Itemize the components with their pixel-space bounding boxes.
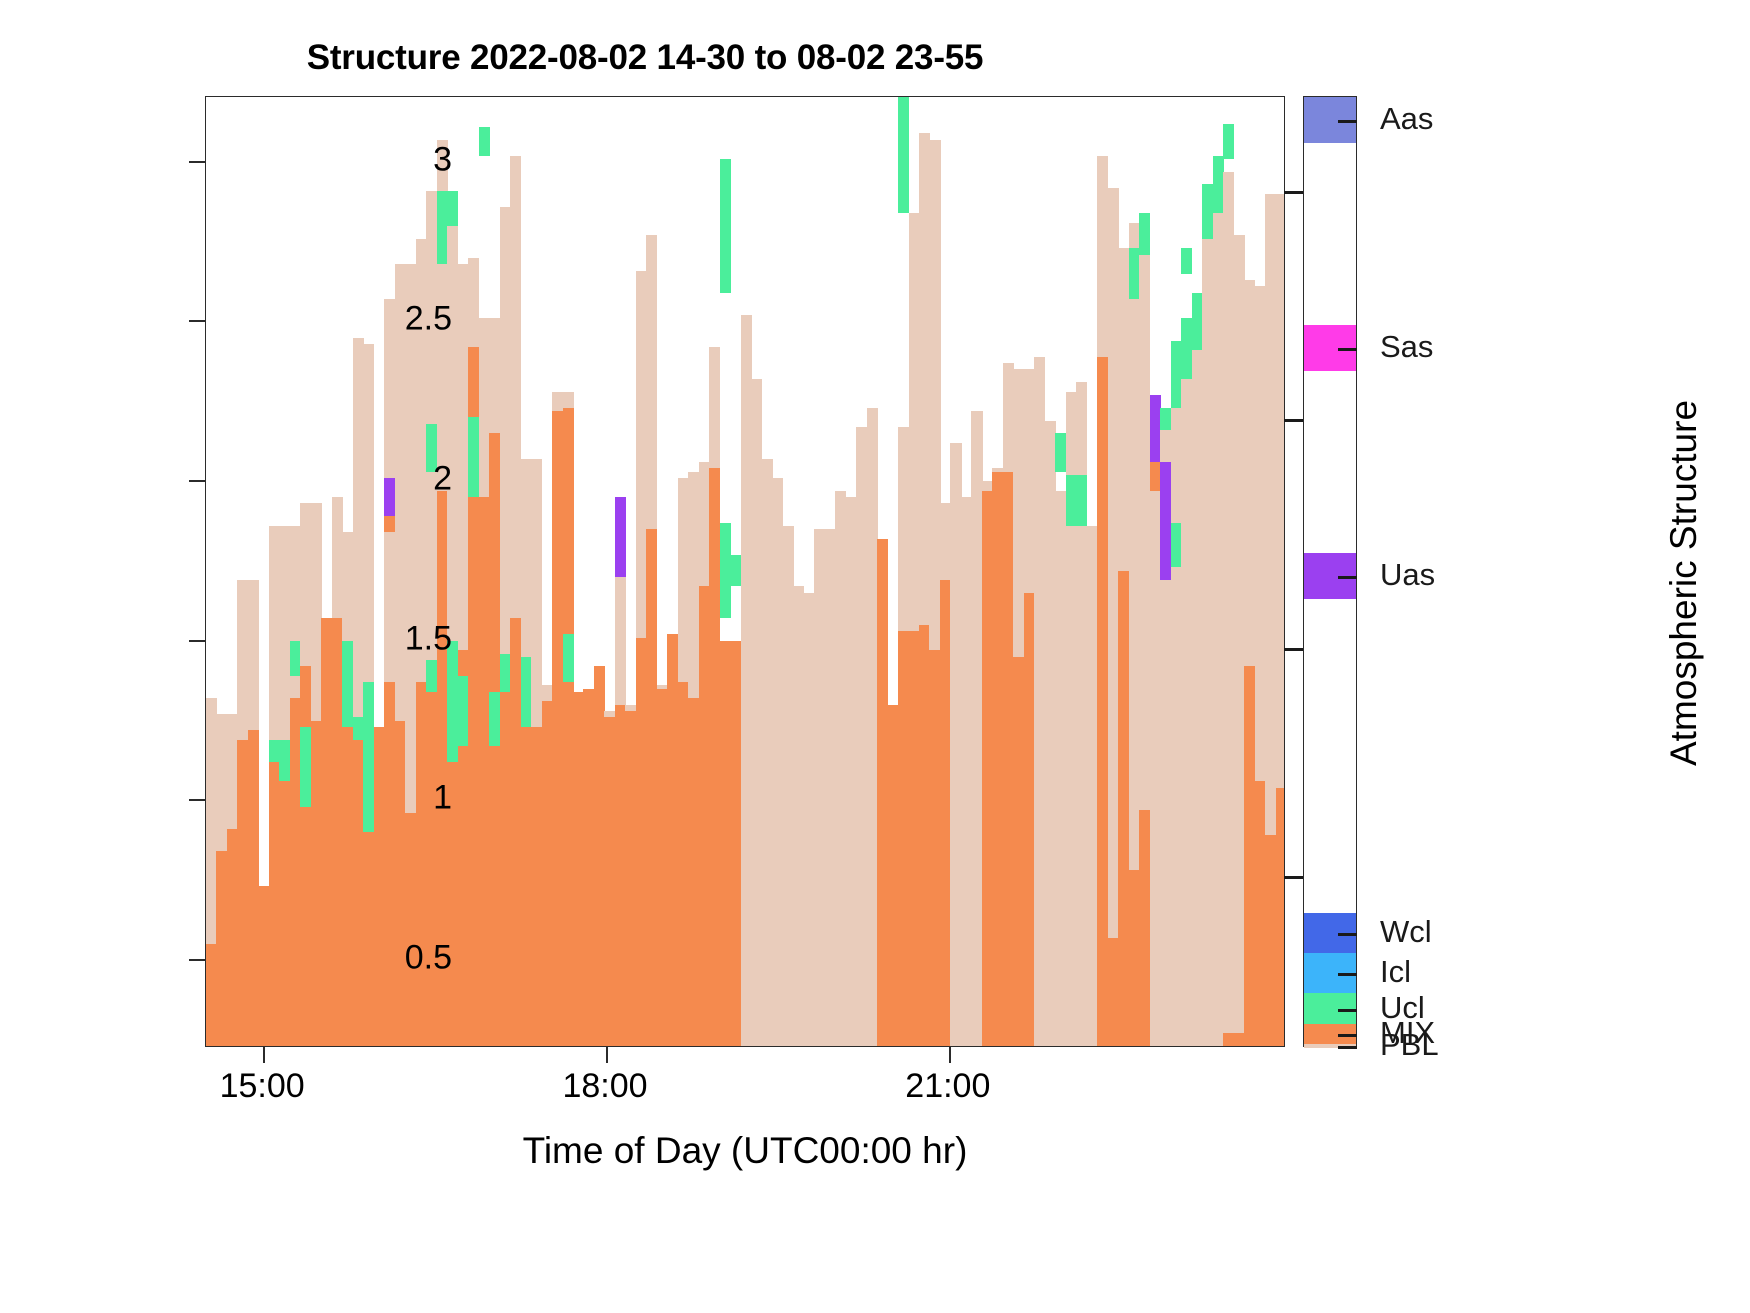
structure-segment xyxy=(1034,357,1045,1046)
colorbar-tick-mark xyxy=(1338,576,1357,579)
structure-segment xyxy=(216,851,227,1046)
structure-segment xyxy=(521,657,532,727)
profile-column xyxy=(615,97,626,1046)
profile-column xyxy=(646,97,657,1046)
structure-segment xyxy=(604,717,615,1046)
profile-column xyxy=(395,97,406,1046)
structure-segment xyxy=(1045,421,1056,1046)
profile-column xyxy=(678,97,689,1046)
x-tick-label: 15:00 xyxy=(220,1067,305,1106)
profile-column xyxy=(793,97,804,1046)
colorbar-label-uas: Uas xyxy=(1380,557,1435,593)
profile-column xyxy=(416,97,427,1046)
structure-segment xyxy=(825,529,836,1046)
structure-segment xyxy=(657,689,668,1046)
structure-segment xyxy=(940,580,951,1046)
structure-segment xyxy=(877,539,888,1046)
profile-column xyxy=(856,97,867,1046)
structure-segment xyxy=(730,641,741,1046)
profile-column xyxy=(489,97,500,1046)
y-tick-mark xyxy=(189,640,206,642)
structure-segment xyxy=(1013,657,1024,1046)
profile-column xyxy=(342,97,353,1046)
profile-column xyxy=(1118,97,1129,1046)
structure-segment xyxy=(573,692,584,1046)
profile-column xyxy=(667,97,678,1046)
profile-column xyxy=(992,97,1003,1046)
structure-segment xyxy=(206,944,217,1046)
profile-column xyxy=(426,97,437,1046)
structure-segment xyxy=(1150,395,1161,462)
structure-segment xyxy=(730,555,741,587)
structure-segment xyxy=(919,625,930,1046)
y-tick-label: 1.5 xyxy=(292,619,452,658)
structure-segment xyxy=(321,618,332,1046)
profile-column xyxy=(1276,97,1285,1046)
structure-segment xyxy=(688,698,699,1046)
profile-column xyxy=(783,97,794,1046)
profile-column xyxy=(1076,97,1087,1046)
structure-segment xyxy=(447,191,458,226)
profile-column xyxy=(982,97,993,1046)
y-tick-mark xyxy=(189,320,206,322)
structure-segment xyxy=(300,666,311,1046)
structure-segment xyxy=(1223,1033,1234,1046)
colorbar-tick-mark xyxy=(1338,348,1357,351)
structure-segment xyxy=(531,727,542,1046)
structure-segment xyxy=(856,427,867,1046)
structure-segment xyxy=(667,634,678,1046)
structure-segment xyxy=(835,491,846,1046)
structure-segment xyxy=(1244,666,1255,1046)
profile-column xyxy=(563,97,574,1046)
structure-segment xyxy=(814,529,825,1046)
colorbar-label-pbl: PBL xyxy=(1380,1027,1439,1063)
profile-column xyxy=(720,97,731,1046)
profile-column xyxy=(688,97,699,1046)
profile-column xyxy=(1003,97,1014,1046)
profile-column xyxy=(1265,97,1276,1046)
structure-segment xyxy=(1213,191,1224,1046)
profile-column xyxy=(1108,97,1119,1046)
y-tick-label: 3 xyxy=(292,140,452,179)
profile-column xyxy=(510,97,521,1046)
profile-column xyxy=(583,97,594,1046)
structure-segment xyxy=(237,740,248,1046)
structure-segment xyxy=(625,711,636,1046)
structure-segment xyxy=(479,497,490,1046)
structure-segment xyxy=(1129,248,1140,299)
profile-column xyxy=(468,97,479,1046)
structure-segment xyxy=(888,705,899,1046)
structure-segment xyxy=(405,813,416,1046)
structure-segment xyxy=(1171,341,1182,408)
structure-segment xyxy=(269,762,280,1046)
profile-column xyxy=(290,97,301,1046)
structure-segment xyxy=(929,650,940,1046)
structure-segment xyxy=(594,666,605,1046)
structure-segment xyxy=(1276,788,1285,1046)
colorbar-label-sas: Sas xyxy=(1380,329,1433,365)
structure-segment xyxy=(699,586,710,1046)
profile-column xyxy=(1045,97,1056,1046)
profile-column xyxy=(950,97,961,1046)
structure-segment xyxy=(961,497,972,1046)
y-tick-label: 1 xyxy=(292,779,452,818)
structure-segment xyxy=(1181,318,1192,379)
profile-column xyxy=(804,97,815,1046)
profile-column xyxy=(1171,97,1182,1046)
profile-column xyxy=(1213,97,1224,1046)
profile-column xyxy=(940,97,951,1046)
profile-column xyxy=(888,97,899,1046)
profile-column xyxy=(1013,97,1024,1046)
profile-column xyxy=(835,97,846,1046)
structure-segment xyxy=(500,692,511,1046)
structure-segment xyxy=(437,191,448,264)
structure-segment xyxy=(1160,462,1171,523)
structure-segment xyxy=(1139,213,1150,254)
profile-column xyxy=(311,97,322,1046)
structure-segment xyxy=(353,727,364,1046)
structure-segment xyxy=(1055,491,1066,1046)
structure-segment xyxy=(992,472,1003,1046)
x-tick-mark xyxy=(263,1046,265,1063)
structure-segment xyxy=(1181,318,1192,1046)
structure-segment xyxy=(1202,216,1213,1046)
profile-column xyxy=(216,97,227,1046)
structure-segment xyxy=(720,523,731,619)
profile-column xyxy=(248,97,259,1046)
profile-column xyxy=(269,97,280,1046)
profile-column xyxy=(594,97,605,1046)
profile-column xyxy=(898,97,909,1046)
profile-column xyxy=(458,97,469,1046)
structure-segment xyxy=(1108,938,1119,1047)
profile-column xyxy=(1139,97,1150,1046)
structure-segment xyxy=(1076,475,1087,526)
structure-segment xyxy=(416,682,427,1046)
profile-column xyxy=(741,97,752,1046)
colorbar-label-wcl: Wcl xyxy=(1380,914,1432,950)
structure-segment xyxy=(678,682,689,1046)
profile-column xyxy=(699,97,710,1046)
profile-column xyxy=(909,97,920,1046)
profile-column xyxy=(1055,97,1066,1046)
profile-column xyxy=(971,97,982,1046)
structure-segment xyxy=(342,682,353,1046)
profile-column xyxy=(762,97,773,1046)
structure-segment xyxy=(510,618,521,1046)
structure-segment xyxy=(374,727,385,1046)
structure-segment xyxy=(615,705,626,1046)
structure-segment xyxy=(489,692,500,746)
colorbar-title: Atmospheric Structure xyxy=(1663,400,1705,766)
structure-segment xyxy=(279,740,290,781)
colorbar-tick-mark xyxy=(1338,1046,1357,1049)
structure-segment xyxy=(1192,293,1203,1046)
structure-segment xyxy=(1192,293,1203,350)
profile-column xyxy=(384,97,395,1046)
colorbar[interactable] xyxy=(1303,96,1357,1047)
structure-segment xyxy=(1087,526,1098,1046)
structure-segment xyxy=(468,417,479,497)
profile-column xyxy=(437,97,448,1046)
x-axis-title: Time of Day (UTC00:00 hr) xyxy=(205,1130,1285,1172)
profile-column xyxy=(1192,97,1203,1046)
plot-axes xyxy=(205,96,1285,1047)
structure-segment xyxy=(500,654,511,692)
structure-segment xyxy=(720,641,731,1046)
profile-column xyxy=(405,97,416,1046)
profile-column xyxy=(573,97,584,1046)
profile-column xyxy=(531,97,542,1046)
structure-segment xyxy=(1118,571,1129,1047)
profile-column xyxy=(846,97,857,1046)
profile-column xyxy=(751,97,762,1046)
y-tick-label: 0.5 xyxy=(292,938,452,977)
colorbar-label-icl: Icl xyxy=(1380,954,1411,990)
profile-column xyxy=(479,97,490,1046)
structure-segment xyxy=(971,411,982,1046)
structure-segment xyxy=(1097,357,1108,1046)
profile-column xyxy=(1034,97,1045,1046)
profile-column xyxy=(1234,97,1245,1046)
structure-segment xyxy=(458,676,469,746)
y-tick-mark xyxy=(189,161,206,163)
figure-canvas: Structure 2022-08-02 14-30 to 08-02 23-5… xyxy=(0,0,1750,1313)
profile-column xyxy=(279,97,290,1046)
profile-column xyxy=(1255,97,1266,1046)
profile-column xyxy=(657,97,668,1046)
profile-column xyxy=(625,97,636,1046)
structure-segment xyxy=(258,886,269,1046)
profile-column xyxy=(1202,97,1213,1046)
plot-clip-region xyxy=(206,97,1284,1046)
profile-column xyxy=(447,97,458,1046)
structure-segment xyxy=(772,478,783,1046)
structure-segment xyxy=(793,586,804,1046)
structure-segment xyxy=(615,497,626,577)
profile-column xyxy=(929,97,940,1046)
profile-column xyxy=(877,97,888,1046)
profile-column xyxy=(1223,97,1234,1046)
profile-column xyxy=(730,97,741,1046)
structure-segment xyxy=(1160,523,1171,580)
structure-segment xyxy=(1223,124,1234,159)
structure-segment xyxy=(1150,462,1161,491)
structure-segment xyxy=(290,698,301,1046)
profile-column xyxy=(1024,97,1035,1046)
profile-column xyxy=(552,97,563,1046)
structure-segment xyxy=(1003,472,1014,1046)
structure-segment xyxy=(563,634,574,682)
structure-segment xyxy=(269,740,280,762)
profile-column xyxy=(814,97,825,1046)
structure-segment xyxy=(1171,341,1182,1046)
structure-segment xyxy=(1234,235,1245,1046)
profile-column xyxy=(500,97,511,1046)
profile-column xyxy=(867,97,878,1046)
structure-segment xyxy=(583,689,594,1046)
structure-segment xyxy=(1160,408,1171,430)
structure-segment xyxy=(898,97,909,213)
colorbar-tick-mark xyxy=(1338,933,1357,936)
profile-column xyxy=(521,97,532,1046)
profile-column xyxy=(1087,97,1098,1046)
structure-segment xyxy=(751,379,762,1046)
colorbar-outer-tick xyxy=(1284,419,1303,422)
structure-segment xyxy=(395,721,406,1047)
y-tick-mark xyxy=(189,799,206,801)
structure-segment xyxy=(1066,475,1077,526)
structure-segment xyxy=(1024,593,1035,1046)
colorbar-tick-mark xyxy=(1338,1009,1357,1012)
structure-segment xyxy=(332,618,343,1046)
structure-segment xyxy=(1171,523,1182,568)
structure-segment xyxy=(950,443,961,1046)
structure-segment xyxy=(248,730,259,1046)
profile-column xyxy=(604,97,615,1046)
x-tick-label: 18:00 xyxy=(562,1067,647,1106)
profile-column xyxy=(542,97,553,1046)
structure-segment xyxy=(447,641,458,762)
structure-segment xyxy=(636,638,647,1046)
profile-column xyxy=(332,97,343,1046)
structure-segment xyxy=(846,497,857,1046)
profile-column xyxy=(363,97,374,1046)
structure-segment xyxy=(479,127,490,156)
x-tick-mark xyxy=(949,1046,951,1063)
structure-segment xyxy=(279,781,290,1046)
structure-segment xyxy=(426,660,437,692)
profile-column xyxy=(258,97,269,1046)
profile-column xyxy=(353,97,364,1046)
structure-segment xyxy=(1139,810,1150,1046)
colorbar-outer-tick xyxy=(1284,191,1303,194)
profile-column xyxy=(1150,97,1161,1046)
structure-segment xyxy=(1181,248,1192,274)
profile-column xyxy=(772,97,783,1046)
colorbar-label-aas: Aas xyxy=(1380,101,1433,137)
colorbar-outer-tick xyxy=(1284,648,1303,651)
x-tick-mark xyxy=(606,1046,608,1063)
structure-segment xyxy=(804,593,815,1046)
profile-column xyxy=(374,97,385,1046)
y-tick-label: 2 xyxy=(292,459,452,498)
profile-column xyxy=(1160,97,1171,1046)
profile-column xyxy=(1244,97,1255,1046)
colorbar-tick-mark xyxy=(1338,1034,1357,1037)
bar-series-container xyxy=(206,97,1284,1046)
structure-segment xyxy=(311,721,322,1047)
profile-column xyxy=(1066,97,1077,1046)
profile-column xyxy=(321,97,332,1046)
structure-segment xyxy=(227,829,238,1046)
structure-segment xyxy=(1055,433,1066,471)
structure-segment xyxy=(1202,184,1213,238)
structure-segment xyxy=(542,701,553,1046)
structure-segment xyxy=(741,315,752,1046)
x-tick-label: 21:00 xyxy=(905,1067,990,1106)
structure-segment xyxy=(1223,172,1234,1046)
structure-segment xyxy=(709,468,720,1046)
profile-column xyxy=(961,97,972,1046)
structure-segment xyxy=(563,408,574,1046)
profile-column xyxy=(300,97,311,1046)
profile-column xyxy=(1181,97,1192,1046)
structure-segment xyxy=(867,408,878,1046)
structure-segment xyxy=(720,159,731,293)
structure-segment xyxy=(1255,781,1266,1046)
profile-column xyxy=(919,97,930,1046)
profile-column xyxy=(227,97,238,1046)
profile-column xyxy=(237,97,248,1046)
structure-segment xyxy=(762,459,773,1046)
profile-column xyxy=(825,97,836,1046)
profile-column xyxy=(1097,97,1108,1046)
profile-column xyxy=(206,97,217,1046)
structure-segment xyxy=(1129,870,1140,1046)
colorbar-outer-tick xyxy=(1284,876,1303,879)
structure-segment xyxy=(1234,1033,1245,1046)
structure-segment xyxy=(384,682,395,1046)
structure-segment xyxy=(1150,395,1161,1046)
colorbar-tick-mark xyxy=(1338,120,1357,123)
colorbar-tick-mark xyxy=(1338,973,1357,976)
structure-segment xyxy=(552,411,563,1046)
profile-column xyxy=(709,97,720,1046)
structure-segment xyxy=(353,717,364,739)
page-title: Structure 2022-08-02 14-30 to 08-02 23-5… xyxy=(0,38,1290,78)
structure-segment xyxy=(1108,188,1119,1046)
y-tick-mark xyxy=(189,959,206,961)
structure-segment xyxy=(1213,156,1224,213)
structure-segment xyxy=(982,491,993,1046)
structure-segment xyxy=(426,660,437,1046)
structure-segment xyxy=(909,631,920,1046)
profile-column xyxy=(1129,97,1140,1046)
structure-segment xyxy=(1265,835,1276,1046)
profile-column xyxy=(636,97,647,1046)
structure-segment xyxy=(783,526,794,1046)
structure-segment xyxy=(646,529,657,1046)
structure-segment xyxy=(898,631,909,1046)
y-tick-label: 2.5 xyxy=(292,300,452,339)
y-tick-mark xyxy=(189,480,206,482)
